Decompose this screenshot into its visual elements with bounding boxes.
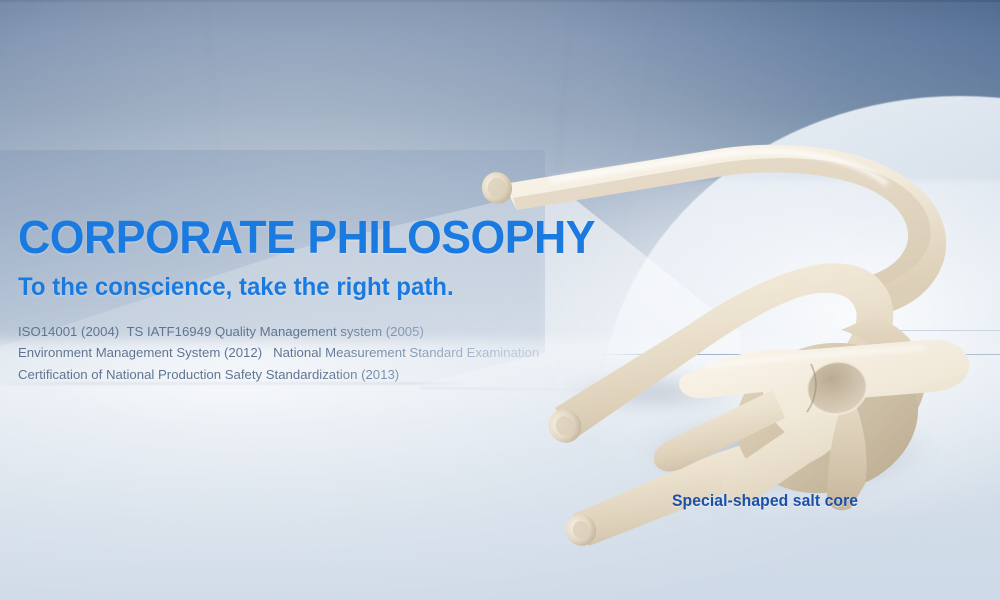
certification-list: ISO14001 (2004) TS IATF16949 Quality Man… [18,321,578,386]
page-title: CORPORATE PHILOSOPHY [18,214,561,262]
salt-core-tip-upper [478,168,516,207]
page-subtitle: To the conscience, take the right path. [18,272,556,302]
certification-line: Certification of National Production Saf… [18,364,578,386]
certification-line: ISO14001 (2004) TS IATF16949 Quality Man… [18,321,578,343]
corporate-philosophy-banner: CORPORATE PHILOSOPHY To the conscience, … [0,0,1000,600]
product-caption: Special-shaped salt core [672,492,858,511]
certification-line: Environment Management System (2012) Nat… [18,342,578,364]
headline-text-block: CORPORATE PHILOSOPHY To the conscience, … [18,214,578,385]
